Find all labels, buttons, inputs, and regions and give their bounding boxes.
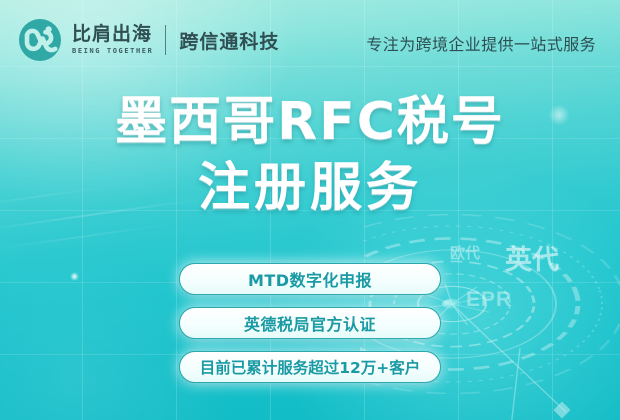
- feature-pill-label: 英德税局官方认证: [244, 311, 376, 335]
- brand-text-block: 比肩出海 BEING TOGETHER: [72, 24, 153, 56]
- hero-title: 墨西哥RFC税号 注册服务: [0, 92, 620, 218]
- brand-logo[interactable]: 比肩出海 BEING TOGETHER 跨信通科技: [18, 18, 279, 62]
- feature-pill-certification[interactable]: 英德税局官方认证: [179, 307, 441, 339]
- promo-banner: 欧代 英代 EPR 比肩出海 BEING TOGETHER 跨信通科技 专注为跨…: [0, 0, 620, 420]
- brand-name-en: BEING TOGETHER: [72, 46, 153, 56]
- header-tagline: 专注为跨境企业提供一站式服务: [366, 31, 596, 55]
- hero-title-line-1: 墨西哥RFC税号: [0, 92, 620, 152]
- hero-title-line-2: 注册服务: [0, 158, 620, 218]
- feature-pill-list: MTD数字化申报 英德税局官方认证 目前已累计服务超过12万+客户: [0, 263, 620, 383]
- being-together-logo-icon: [18, 18, 62, 62]
- banner-header: 比肩出海 BEING TOGETHER 跨信通科技 专注为跨境企业提供一站式服务: [0, 0, 620, 80]
- feature-pill-label: MTD数字化申报: [248, 267, 372, 291]
- watermark-oudai: 欧代: [450, 242, 480, 263]
- feature-pill-label: 目前已累计服务超过12万+客户: [200, 356, 421, 378]
- feature-pill-customers[interactable]: 目前已累计服务超过12万+客户: [179, 351, 441, 383]
- light-streak: [0, 223, 169, 250]
- feature-pill-mtd[interactable]: MTD数字化申报: [179, 263, 441, 295]
- brand-company-name: 跨信通科技: [179, 27, 279, 54]
- brand-divider: [165, 25, 166, 55]
- brand-name-cn: 比肩出海: [72, 24, 153, 45]
